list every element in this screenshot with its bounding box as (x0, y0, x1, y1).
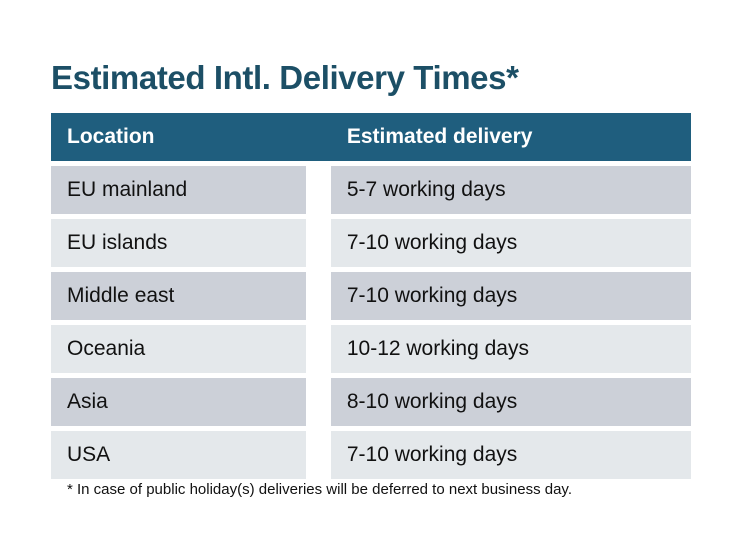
delivery-times-page: Estimated Intl. Delivery Times* Location… (0, 0, 745, 536)
table-head: Location Estimated delivery (51, 113, 691, 161)
column-gap (306, 378, 331, 426)
column-header-location: Location (51, 113, 306, 161)
cell-location: EU mainland (51, 166, 306, 214)
table-body: EU mainland 5-7 working days EU islands … (51, 161, 691, 479)
table-header-row: Location Estimated delivery (51, 113, 691, 161)
table-row: USA 7-10 working days (51, 431, 691, 479)
table-row: EU mainland 5-7 working days (51, 166, 691, 214)
cell-location: USA (51, 431, 306, 479)
table-row: EU islands 7-10 working days (51, 219, 691, 267)
column-gap (306, 431, 331, 479)
cell-location: Oceania (51, 325, 306, 373)
column-gap (306, 113, 331, 161)
cell-location: EU islands (51, 219, 306, 267)
column-gap (306, 325, 331, 373)
column-header-estimated-delivery: Estimated delivery (331, 113, 691, 161)
cell-estimated-delivery: 5-7 working days (331, 166, 691, 214)
estimated-delivery-times-table: Location Estimated delivery EU mainland … (51, 113, 691, 479)
page-title: Estimated Intl. Delivery Times* (51, 58, 519, 98)
cell-estimated-delivery: 7-10 working days (331, 272, 691, 320)
cell-estimated-delivery: 7-10 working days (331, 219, 691, 267)
table-row: Middle east 7-10 working days (51, 272, 691, 320)
column-gap (306, 272, 331, 320)
footnote-text: * In case of public holiday(s) deliverie… (67, 480, 572, 500)
column-gap (306, 219, 331, 267)
cell-location: Middle east (51, 272, 306, 320)
cell-estimated-delivery: 8-10 working days (331, 378, 691, 426)
cell-estimated-delivery: 7-10 working days (331, 431, 691, 479)
column-gap (306, 166, 331, 214)
table-row: Oceania 10-12 working days (51, 325, 691, 373)
cell-location: Asia (51, 378, 306, 426)
table-row: Asia 8-10 working days (51, 378, 691, 426)
cell-estimated-delivery: 10-12 working days (331, 325, 691, 373)
